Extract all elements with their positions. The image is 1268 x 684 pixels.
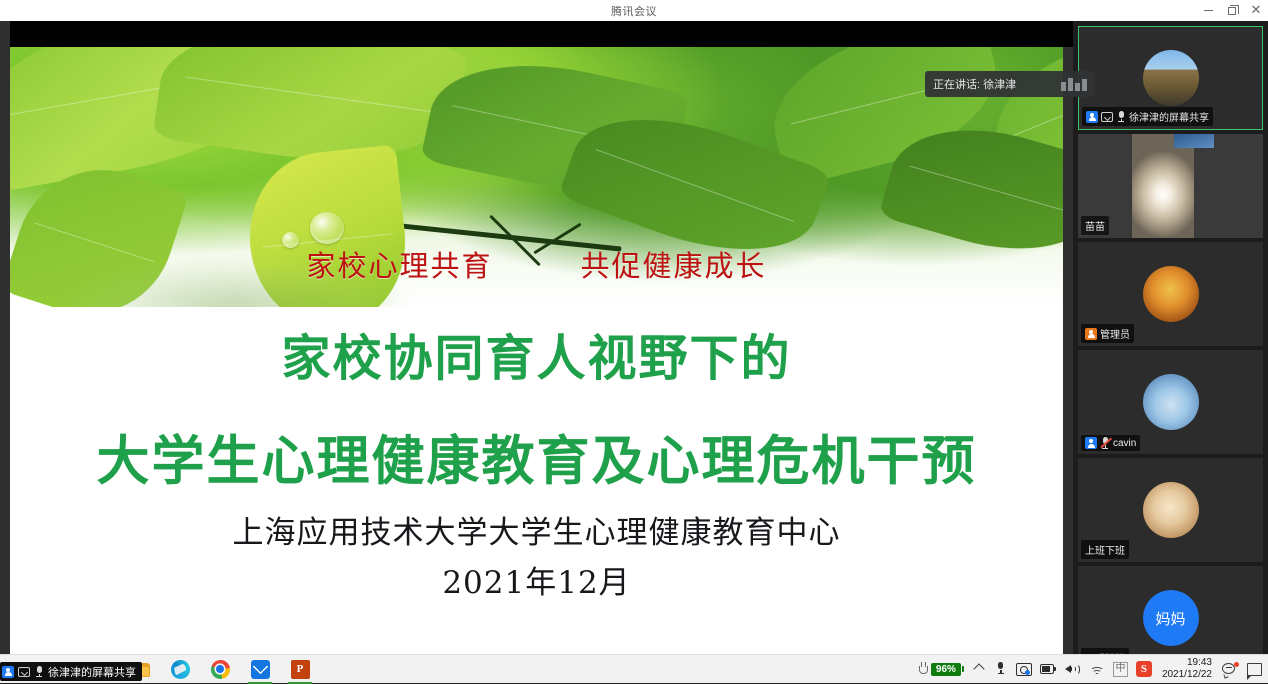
- microphone-button[interactable]: [990, 655, 1012, 684]
- chrome-button[interactable]: [200, 655, 240, 684]
- action-center-icon: [1247, 663, 1262, 676]
- slide-subtitle-right: 共促健康成长: [581, 243, 767, 285]
- clock-date: 2021/12/22: [1162, 669, 1212, 682]
- mic-on-icon: [34, 666, 44, 678]
- presentation-slide[interactable]: 家校心理共育 共促健康成长 家校协同育人视野下的 大学生心理健康教育及心理危机干…: [10, 47, 1063, 668]
- participant-sidebar[interactable]: 徐津津的屏幕共享 苗苗 管理员: [1073, 21, 1268, 683]
- slide-subtitle-left: 家校心理共育: [306, 243, 492, 285]
- active-speaker-label: 正在讲话: 徐津津: [933, 76, 1016, 92]
- participant-name: 徐津津的屏幕共享: [1129, 109, 1209, 124]
- maximize-icon: [1228, 7, 1236, 15]
- water-droplet-icon: [310, 212, 344, 244]
- close-button[interactable]: ✕: [1244, 0, 1268, 21]
- slide-date: 2021年12月: [10, 557, 1063, 602]
- power-plug-icon: [917, 662, 930, 677]
- edge-icon: [171, 660, 190, 679]
- window-controls: ✕: [1196, 0, 1268, 21]
- screen-share-overlay[interactable]: 徐津津的屏幕共享: [0, 662, 142, 681]
- tray-overflow-button[interactable]: [968, 655, 990, 684]
- windows-taskbar: P 96%: [0, 654, 1268, 683]
- battery-icon: [1040, 664, 1057, 674]
- clock[interactable]: 19:43 2021/12/22: [1156, 655, 1218, 684]
- edge-button[interactable]: [160, 655, 200, 684]
- avatar: [1143, 50, 1199, 106]
- chevron-up-icon: [973, 663, 984, 674]
- window-title: 腾讯会议: [611, 3, 657, 19]
- host-badge-icon: [1086, 111, 1098, 123]
- volume-button[interactable]: [1061, 655, 1085, 684]
- participant-footer: 苗苗: [1081, 216, 1109, 235]
- participant-tile[interactable]: 苗苗: [1078, 134, 1263, 238]
- ime-chinese-icon: 中: [1113, 662, 1128, 677]
- notification-button[interactable]: [1218, 655, 1243, 684]
- screen-share-overlay-label: 徐津津的屏幕共享: [48, 664, 136, 680]
- sogou-icon: S: [1136, 661, 1152, 677]
- participant-footer: 上班下班: [1081, 540, 1129, 559]
- wifi-icon: [1089, 663, 1105, 676]
- tencent-meeting-window: 腾讯会议 ✕: [0, 0, 1268, 683]
- ime-mode-button[interactable]: 中: [1109, 655, 1132, 684]
- avatar: 妈妈: [1143, 590, 1199, 646]
- maximize-button[interactable]: [1220, 0, 1244, 21]
- participant-footer: 徐津津的屏幕共享: [1082, 107, 1213, 126]
- title-bar: 腾讯会议 ✕: [0, 0, 1268, 21]
- powerpoint-letter: P: [297, 664, 304, 675]
- tencent-meeting-button[interactable]: [240, 655, 280, 684]
- host-badge-icon: [1085, 437, 1097, 449]
- tencent-meeting-icon: [251, 660, 270, 679]
- battery-percent-label: 96%: [936, 664, 956, 675]
- network-button[interactable]: [1085, 655, 1109, 684]
- screen-share-icon: [1101, 112, 1113, 122]
- mic-muted-icon: [1100, 437, 1110, 449]
- close-icon: ✕: [1251, 4, 1262, 17]
- battery-button[interactable]: [1036, 655, 1061, 684]
- volume-icon: [1065, 662, 1081, 676]
- screen-share-icon: [18, 667, 30, 677]
- participant-name: 苗苗: [1085, 218, 1105, 233]
- camera-icon: [1016, 663, 1032, 676]
- participant-tile[interactable]: 管理员: [1078, 242, 1263, 346]
- host-badge-icon: [2, 666, 14, 678]
- participant-name: cavin: [1113, 438, 1136, 449]
- participant-footer: 管理员: [1081, 324, 1134, 343]
- avatar: [1143, 266, 1199, 322]
- slide-title-line-1: 家校协同育人视野下的: [10, 319, 1063, 390]
- participant-name: 管理员: [1100, 326, 1130, 341]
- active-speaker-banner: 正在讲话: 徐津津: [925, 71, 1095, 97]
- minimize-icon: [1204, 10, 1213, 11]
- participant-tile[interactable]: cavin: [1078, 350, 1263, 454]
- powerpoint-icon: P: [291, 660, 310, 679]
- clock-time: 19:43: [1187, 657, 1212, 670]
- battery-percent-badge: 96%: [931, 663, 964, 676]
- action-center-button[interactable]: [1243, 655, 1266, 684]
- powerpoint-button[interactable]: P: [280, 655, 320, 684]
- shared-screen-area[interactable]: 家校心理共育 共促健康成长 家校协同育人视野下的 大学生心理健康教育及心理危机干…: [0, 21, 1073, 683]
- video-screen-region: [1174, 134, 1214, 148]
- chat-notification-icon: [1222, 662, 1239, 677]
- battery-status-button[interactable]: 96%: [913, 655, 968, 684]
- mic-on-icon: [1116, 111, 1126, 123]
- video-bright-region: [1132, 134, 1194, 238]
- avatar: [1143, 374, 1199, 430]
- system-tray: 96%: [913, 655, 1268, 684]
- screen-letterbox-top: [10, 21, 1073, 47]
- participant-tile[interactable]: 上班下班: [1078, 458, 1263, 562]
- participant-tile[interactable]: 徐津津的屏幕共享: [1078, 26, 1263, 130]
- avatar-initials: 妈妈: [1143, 590, 1199, 646]
- chrome-icon: [211, 660, 230, 679]
- participant-name: 上班下班: [1085, 542, 1125, 557]
- camera-button[interactable]: [1012, 655, 1036, 684]
- minimize-button[interactable]: [1196, 0, 1220, 21]
- participant-footer: cavin: [1081, 435, 1140, 451]
- slide-organization: 上海应用技术大学大学生心理健康教育中心: [10, 507, 1063, 552]
- audio-wave-icon: [1061, 77, 1087, 91]
- slide-subtitle-row: 家校心理共育 共促健康成长: [10, 243, 1063, 285]
- sogou-input-button[interactable]: S: [1132, 655, 1156, 684]
- host-badge-icon: [1085, 328, 1097, 340]
- slide-title-line-2: 大学生心理健康教育及心理危机干预: [10, 419, 1063, 495]
- microphone-icon: [996, 662, 1005, 676]
- avatar: [1143, 482, 1199, 538]
